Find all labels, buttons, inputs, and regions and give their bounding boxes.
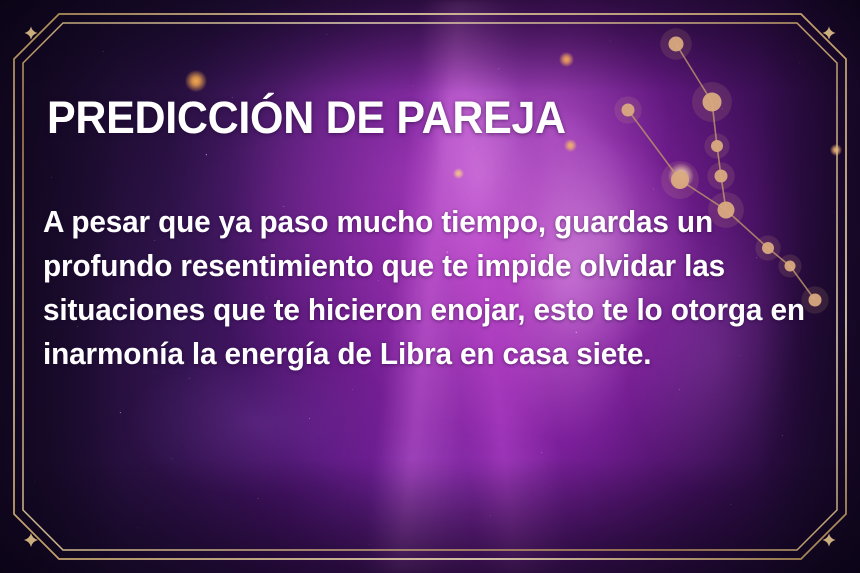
prediction-body-text: A pesar que ya paso mucho tiempo, guarda… — [43, 200, 813, 376]
horoscope-prediction-card: PREDICCIÓN DE PAREJA A pesar que ya paso… — [0, 0, 860, 573]
page-title: PREDICCIÓN DE PAREJA — [47, 95, 566, 140]
text-content: PREDICCIÓN DE PAREJA A pesar que ya paso… — [0, 0, 860, 573]
